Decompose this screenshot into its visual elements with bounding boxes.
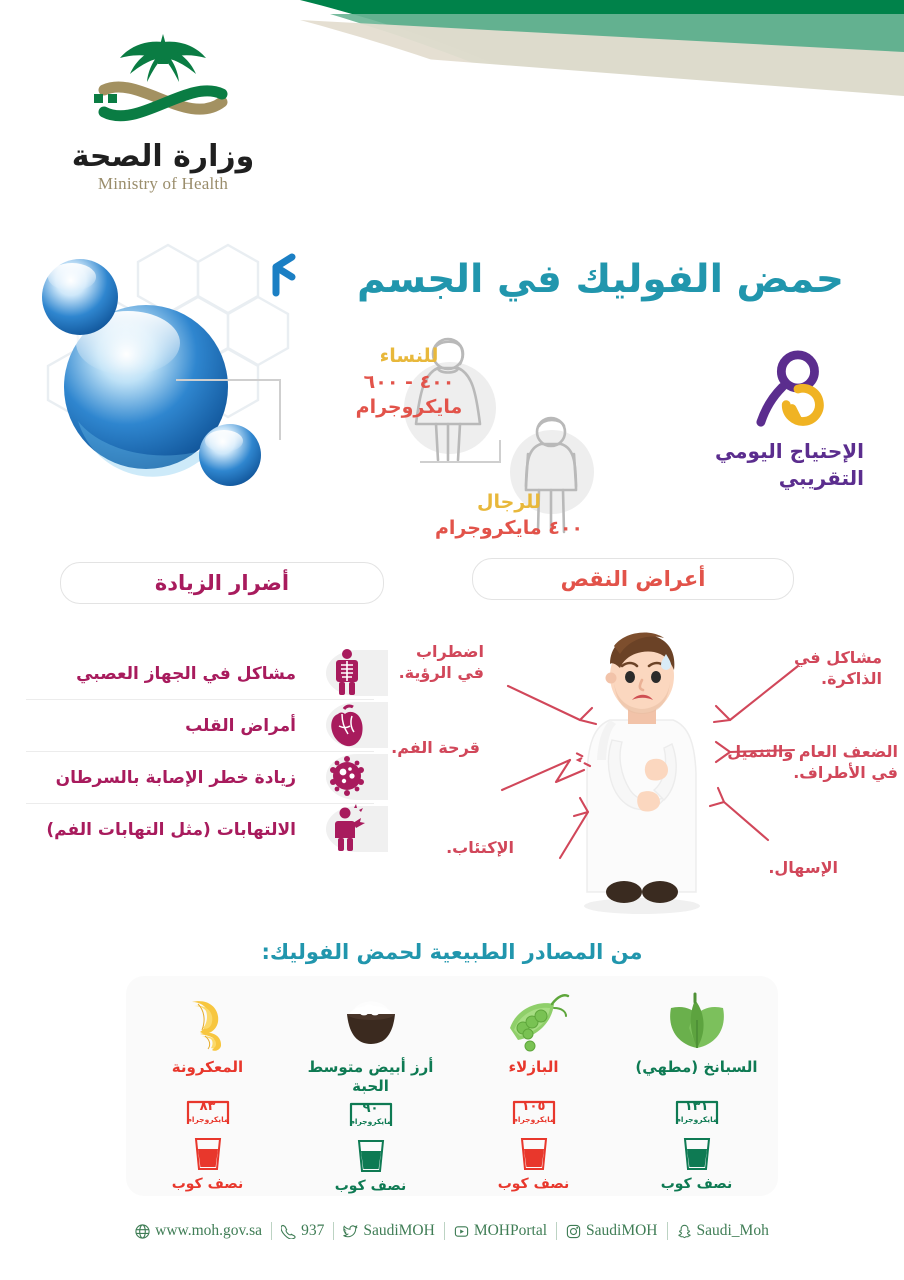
list-item: الالتهابات (مثل التهابات الفم) xyxy=(26,803,374,855)
deficiency-heading: أعراض النقص xyxy=(472,558,794,600)
serving-label: نصف كوب xyxy=(172,1176,244,1192)
food-name: السبانخ (مطهي) xyxy=(635,1058,757,1094)
list-item-label: أمراض القلب xyxy=(185,716,296,736)
amount-unit: مايكروجرام xyxy=(673,1115,721,1124)
footer-website-label: www.moh.gov.sa xyxy=(155,1222,262,1240)
list-item-label: زيادة خطر الإصابة بالسرطان xyxy=(56,768,296,788)
half-cup-icon xyxy=(682,1137,712,1171)
excess-heading: أضرار الزيادة xyxy=(60,562,384,604)
food-name: أرز أبيض متوسط الحبة xyxy=(289,1058,452,1096)
amount-badge: ٨٣ مايكروجرام xyxy=(184,1098,232,1136)
footer-youtube[interactable]: MOHPortal xyxy=(444,1222,556,1240)
footer-snapchat[interactable]: Saudi_Moh xyxy=(667,1222,778,1240)
amount-number: ١٠٥ xyxy=(510,1099,558,1114)
amount-badge: ١٠٥ مايكروجرام xyxy=(510,1098,558,1136)
cancer-cell-icon xyxy=(326,752,368,800)
footer-instagram[interactable]: SaudiMOH xyxy=(556,1222,666,1240)
footer-phone[interactable]: 937 xyxy=(271,1222,333,1240)
pasta-macaroni-icon xyxy=(170,990,246,1052)
globe-icon xyxy=(135,1224,150,1239)
food-item-peas: البازلاء ١٠٥ مايكروجرام نصف كوب xyxy=(452,976,615,1196)
amount-unit: مايكروجرام xyxy=(510,1115,558,1124)
amount-number: ٨٣ xyxy=(184,1099,232,1114)
list-item: مشاكل في الجهاز العصبي xyxy=(26,648,374,699)
heart-organ-icon xyxy=(326,700,368,748)
food-item-rice: أرز أبيض متوسط الحبة ٩٠ مايكروجرام نصف ك… xyxy=(289,976,452,1196)
symptom-depression: الإكتئاب. xyxy=(394,838,514,859)
youtube-icon xyxy=(454,1224,469,1239)
amount-badge: ٩٠ مايكروجرام xyxy=(347,1100,395,1138)
footer-social-bar: www.moh.gov.sa 937 SaudiMOH MOHPortal xyxy=(0,1222,904,1240)
list-item-label: الالتهابات (مثل التهابات الفم) xyxy=(46,820,296,840)
symptom-memory: مشاكل في الذاكرة. xyxy=(772,648,882,690)
list-item-label: مشاكل في الجهاز العصبي xyxy=(76,664,296,684)
amount-number: ١٣١ xyxy=(673,1099,721,1114)
palm-and-swords-emblem-icon xyxy=(68,28,258,138)
infographic-page: وزارة الصحة Ministry of Health xyxy=(0,0,904,1280)
phone-icon xyxy=(281,1224,296,1239)
symptom-diarrhea: الإسهال. xyxy=(728,858,838,879)
page-title: حمض الفوليك في الجسم xyxy=(244,258,844,303)
nervous-system-body-icon xyxy=(326,648,368,696)
spinach-leaves-icon xyxy=(659,990,735,1052)
footer-snapchat-label: Saudi_Moh xyxy=(697,1222,769,1240)
men-dose-block: للرجال ٤٠٠ مايكروجرام xyxy=(394,490,624,541)
daily-need-section: الإحتياج اليومي التقريبي للنساء ٤٠٠ - ٦٠… xyxy=(0,330,904,560)
amount-unit: مايكروجرام xyxy=(347,1117,395,1126)
instagram-icon xyxy=(566,1224,581,1239)
men-dose-who: للرجال xyxy=(394,490,624,516)
deficiency-symptoms-section: اضطراب في الرؤية. مشاكل في الذاكرة. قرحة… xyxy=(384,620,904,920)
footer-website[interactable]: www.moh.gov.sa xyxy=(126,1222,271,1240)
symptom-weakness: الضعف العام والتنميل في الأطراف. xyxy=(718,742,898,784)
footer-twitter[interactable]: SaudiMOH xyxy=(333,1222,443,1240)
two-people-icon xyxy=(730,350,860,430)
half-cup-icon xyxy=(356,1139,386,1173)
snapchat-icon xyxy=(677,1224,692,1239)
amount-badge: ١٣١ مايكروجرام xyxy=(673,1098,721,1136)
footer-phone-label: 937 xyxy=(301,1222,324,1240)
amount-unit: مايكروجرام xyxy=(184,1115,232,1124)
logo-english-name: Ministry of Health xyxy=(48,174,278,194)
food-sources-card: السبانخ (مطهي) ١٣١ مايكروجرام نصف كوب xyxy=(126,976,778,1196)
men-dose-line: ٤٠٠ مايكروجرام xyxy=(394,516,624,542)
rice-bowl-icon xyxy=(333,990,409,1052)
symptom-vision: اضطراب في الرؤية. xyxy=(388,642,484,684)
green-peas-pod-icon xyxy=(496,990,572,1052)
logo-arabic-name: وزارة الصحة xyxy=(48,140,278,173)
serving-label: نصف كوب xyxy=(335,1178,407,1194)
twitter-icon xyxy=(343,1224,358,1239)
footer-youtube-label: MOHPortal xyxy=(474,1222,547,1240)
sources-heading: من المصادر الطبيعية لحمض الفوليك: xyxy=(0,940,904,964)
serving-label: نصف كوب xyxy=(661,1176,733,1192)
list-item: زيادة خطر الإصابة بالسرطان xyxy=(26,751,374,803)
women-dose-who: للنساء xyxy=(334,344,484,370)
list-item: أمراض القلب xyxy=(26,699,374,751)
amount-number: ٩٠ xyxy=(347,1101,395,1116)
food-name: المعكرونة xyxy=(172,1058,243,1094)
footer-twitter-label: SaudiMOH xyxy=(363,1222,434,1240)
food-name: البازلاء xyxy=(509,1058,559,1094)
food-item-spinach: السبانخ (مطهي) ١٣١ مايكروجرام نصف كوب xyxy=(615,976,778,1196)
moh-logo: وزارة الصحة Ministry of Health xyxy=(48,28,278,194)
half-cup-icon xyxy=(519,1137,549,1171)
women-dose-amount: ٤٠٠ - ٦٠٠ xyxy=(334,370,484,396)
women-dose-unit: مايكروجرام xyxy=(334,395,484,421)
excess-harms-list: مشاكل في الجهاز العصبي أمراض القلب xyxy=(26,648,374,855)
food-item-pasta: المعكرونة ٨٣ مايكروجرام نصف كوب xyxy=(126,976,289,1196)
women-dose-block: للنساء ٤٠٠ - ٦٠٠ مايكروجرام xyxy=(334,344,484,421)
mouth-inflammation-person-icon xyxy=(326,804,368,852)
daily-need-label: الإحتياج اليومي التقريبي xyxy=(674,438,864,492)
serving-label: نصف كوب xyxy=(498,1176,570,1192)
symptom-mouth-ulcer: قرحة الفم. xyxy=(388,738,480,759)
footer-instagram-label: SaudiMOH xyxy=(586,1222,657,1240)
half-cup-icon xyxy=(193,1137,223,1171)
